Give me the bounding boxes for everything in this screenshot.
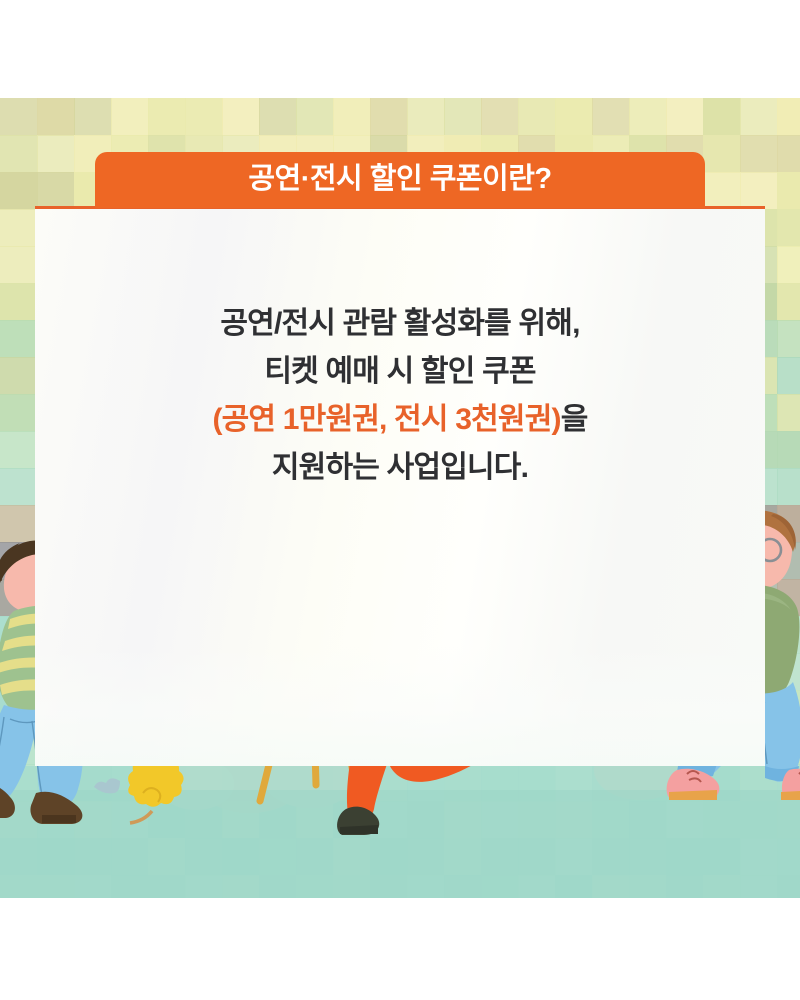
body-line-1: 공연/전시 관람 활성화를 위해, [35, 300, 765, 348]
body-line-2: 티켓 예매 시 할인 쿠폰 [35, 348, 765, 396]
promo-graphic: 공연·전시 할인 쿠폰이란? 공연/전시 관람 활성화를 위해, 티켓 예매 시… [0, 0, 800, 1000]
coupon-amounts: (공연 1만원권, 전시 3천원권) [212, 403, 560, 436]
page-title: 공연·전시 할인 쿠폰이란? [248, 165, 551, 196]
body-line-3: (공연 1만원권, 전시 3천원권)을 [35, 396, 765, 444]
card-bottom-fade [35, 646, 765, 766]
body-line-3-tail: 을 [561, 403, 588, 436]
header-banner: 공연·전시 할인 쿠폰이란? [95, 152, 705, 208]
body-copy: 공연/전시 관람 활성화를 위해, 티켓 예매 시 할인 쿠폰 (공연 1만원권… [35, 300, 765, 492]
body-line-4: 지원하는 사업입니다. [35, 444, 765, 492]
